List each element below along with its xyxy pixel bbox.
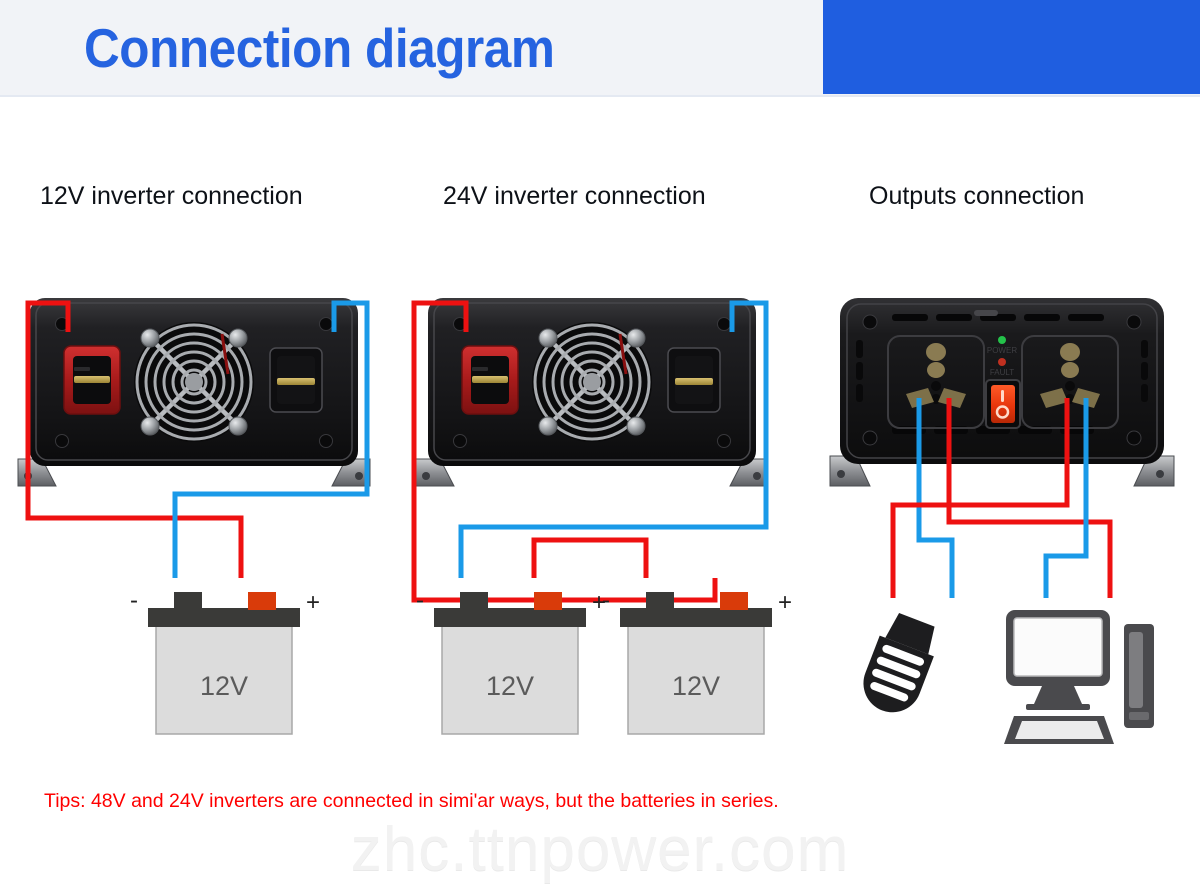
appliance-computer bbox=[1004, 610, 1154, 744]
connection-diagram-canvas: POWER FAULT bbox=[0, 0, 1200, 887]
battery-label: 12V bbox=[672, 671, 720, 701]
battery-24v-1: 12V - + bbox=[416, 587, 606, 734]
diagram-24v-inverter: 12V - + 12V - + bbox=[414, 298, 792, 734]
inverter-unit-12v bbox=[18, 298, 370, 486]
battery-plus-label: + bbox=[306, 589, 320, 616]
battery-minus-label: - bbox=[602, 587, 610, 614]
watermark: zhc.ttnpower.com bbox=[0, 812, 1200, 887]
wire-series-jumper bbox=[534, 540, 646, 578]
inverter-unit-24v bbox=[416, 298, 768, 486]
battery-12v-1: 12V - + bbox=[130, 587, 320, 734]
battery-label: 12V bbox=[486, 671, 534, 701]
outputs-unit bbox=[830, 298, 1174, 486]
battery-minus-label: - bbox=[416, 587, 424, 614]
battery-24v-2: 12V - + bbox=[602, 587, 792, 734]
diagram-outputs bbox=[830, 298, 1174, 744]
battery-minus-label: - bbox=[130, 587, 138, 614]
tip-text: Tips: 48V and 24V inverters are connecte… bbox=[44, 790, 779, 813]
appliance-light-bulb bbox=[855, 609, 944, 720]
battery-label: 12V bbox=[200, 671, 248, 701]
battery-plus-label: + bbox=[778, 589, 792, 616]
diagram-12v-inverter: 12V - + bbox=[18, 298, 370, 734]
